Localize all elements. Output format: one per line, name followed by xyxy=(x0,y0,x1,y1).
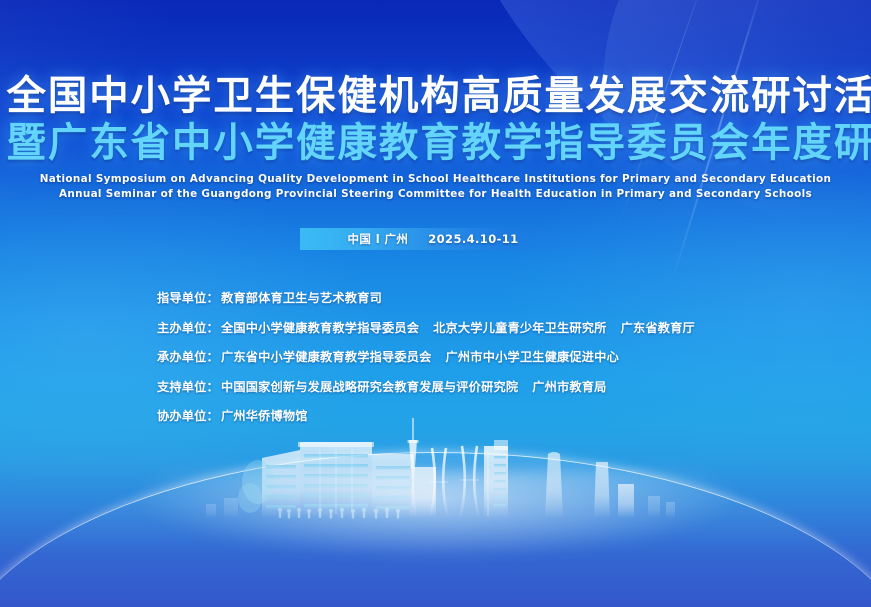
event-meta-badge: 中国 l 广州 2025.4.10-11 xyxy=(300,228,572,250)
org-row-guidance: 指导单位： 教育部体育卫生与艺术教育司 xyxy=(157,288,695,306)
org-label: 协办单位： xyxy=(157,406,219,424)
org-value: 中国国家创新与发展战略研究会教育发展与评价研究院 xyxy=(221,377,518,395)
org-values: 全国中小学健康教育教学指导委员会 北京大学儿童青少年卫生研究所 广东省教育厅 xyxy=(221,318,695,336)
event-meta-text: 中国 l 广州 2025.4.10-11 xyxy=(348,231,519,247)
org-value: 广州市中小学卫生健康促进中心 xyxy=(446,347,619,365)
english-subtitle-block: National Symposium on Advancing Quality … xyxy=(0,172,871,202)
org-value: 广州市教育局 xyxy=(532,377,606,395)
org-value: 广东省中小学健康教育教学指导委员会 xyxy=(221,347,432,365)
org-label: 指导单位： xyxy=(157,288,219,306)
org-values: 广东省中小学健康教育教学指导委员会 广州市中小学卫生健康促进中心 xyxy=(221,347,619,365)
org-value: 广东省教育厅 xyxy=(621,318,695,336)
org-value: 教育部体育卫生与艺术教育司 xyxy=(221,288,382,306)
organizations-list: 指导单位： 教育部体育卫生与艺术教育司 主办单位： 全国中小学健康教育教学指导委… xyxy=(157,288,695,436)
english-subtitle-line1: National Symposium on Advancing Quality … xyxy=(0,172,871,187)
org-value: 广州华侨博物馆 xyxy=(221,406,308,424)
org-values: 广州华侨博物馆 xyxy=(221,406,308,424)
ground-glow xyxy=(126,470,746,560)
event-location: 中国 l 广州 xyxy=(348,231,409,247)
org-value: 北京大学儿童青少年卫生研究所 xyxy=(433,318,606,336)
page-title-line1: 全国中小学卫生保健机构高质量发展交流研讨活动 xyxy=(7,76,865,116)
event-date: 2025.4.10-11 xyxy=(428,232,518,246)
org-label: 主办单位： xyxy=(157,318,219,336)
org-row-organizer: 承办单位： 广东省中小学健康教育教学指导委员会 广州市中小学卫生健康促进中心 xyxy=(157,347,695,365)
org-values: 中国国家创新与发展战略研究会教育发展与评价研究院 广州市教育局 xyxy=(221,377,607,395)
org-value: 全国中小学健康教育教学指导委员会 xyxy=(221,318,419,336)
english-subtitle-line2: Annual Seminar of the Guangdong Provinci… xyxy=(0,187,871,202)
org-row-supporter: 支持单位： 中国国家创新与发展战略研究会教育发展与评价研究院 广州市教育局 xyxy=(157,377,695,395)
org-row-host: 主办单位： 全国中小学健康教育教学指导委员会 北京大学儿童青少年卫生研究所 广东… xyxy=(157,318,695,336)
org-label: 支持单位： xyxy=(157,377,219,395)
org-row-coorganizer: 协办单位： 广州华侨博物馆 xyxy=(157,406,695,424)
event-meta-row: 中国 l 广州 2025.4.10-11 xyxy=(0,228,871,250)
org-label: 承办单位： xyxy=(157,347,219,365)
title-block: 全国中小学卫生保健机构高质量发展交流研讨活动 暨广东省中小学健康教育教学指导委员… xyxy=(0,76,871,202)
org-values: 教育部体育卫生与艺术教育司 xyxy=(221,288,382,306)
page-title-line2: 暨广东省中小学健康教育教学指导委员会年度研讨活动 xyxy=(7,123,865,163)
conference-poster: 全国中小学卫生保健机构高质量发展交流研讨活动 暨广东省中小学健康教育教学指导委员… xyxy=(0,0,871,607)
